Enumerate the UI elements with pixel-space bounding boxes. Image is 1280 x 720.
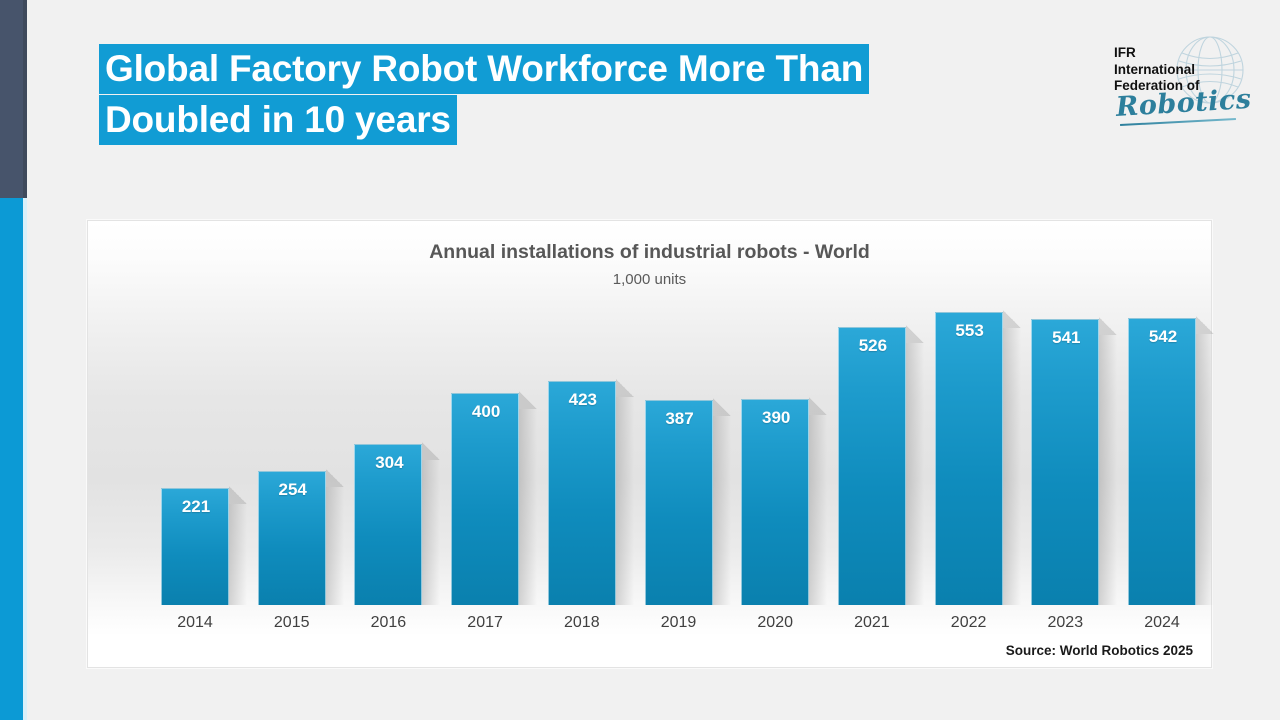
bar-value-label: 423 (549, 390, 617, 410)
bar-shadow-corner (326, 469, 344, 487)
x-axis-tick-label: 2021 (832, 614, 912, 632)
title-line-2: Doubled in 10 years (99, 95, 457, 145)
bar-shadow (1099, 335, 1117, 605)
bar-value-label: 541 (1032, 328, 1100, 348)
bar-shadow (906, 343, 924, 605)
bar-shadow-corner (1003, 310, 1021, 328)
ifr-logo: IFR International Federation of Robotics (1114, 33, 1254, 138)
bar-shadow-corner (229, 486, 247, 504)
chart-panel: Annual installations of industrial robot… (87, 220, 1212, 668)
bar-value-label: 221 (162, 497, 230, 517)
bar-value-label: 526 (839, 336, 907, 356)
bar-shadow (1196, 334, 1214, 605)
bar-value-label: 254 (259, 480, 327, 500)
bar-group: 3042016 (354, 444, 422, 605)
bar-shadow (422, 460, 440, 605)
bar-shadow (616, 397, 634, 605)
x-axis-tick-label: 2018 (542, 614, 622, 632)
x-axis-tick-label: 2020 (735, 614, 815, 632)
bar[interactable]: 553 (935, 312, 1003, 605)
bar-shadow (1003, 328, 1021, 605)
bar-group: 2212014 (161, 488, 229, 605)
bar-value-label: 542 (1129, 327, 1197, 347)
bar-shadow (229, 504, 247, 605)
bar[interactable]: 400 (451, 393, 519, 605)
x-axis-tick-label: 2016 (348, 614, 428, 632)
bar-value-label: 553 (936, 321, 1004, 341)
title-line-1: Global Factory Robot Workforce More Than (99, 44, 869, 94)
logo-line-2: International (1114, 62, 1200, 79)
bar-shadow-corner (809, 397, 827, 415)
bar-shadow-corner (713, 398, 731, 416)
x-axis-tick-label: 2015 (252, 614, 332, 632)
bar[interactable]: 304 (354, 444, 422, 605)
left-accent-strip-dark (0, 0, 23, 198)
logo-line-1: IFR (1114, 45, 1200, 62)
x-axis-tick-label: 2023 (1025, 614, 1105, 632)
bar-group: 2542015 (258, 471, 326, 605)
bar[interactable]: 221 (161, 488, 229, 605)
bar-group: 3902020 (741, 399, 809, 605)
bar[interactable]: 423 (548, 381, 616, 605)
chart-source: Source: World Robotics 2025 (1006, 643, 1193, 658)
bar-shadow (713, 416, 731, 605)
bar-shadow-corner (422, 442, 440, 460)
x-axis-tick-label: 2014 (155, 614, 235, 632)
bar-value-label: 400 (452, 402, 520, 422)
bar-shadow (519, 409, 537, 605)
bar-group: 4002017 (451, 393, 519, 605)
slide-canvas: Global Factory Robot Workforce More Than… (27, 0, 1280, 720)
bar-value-label: 387 (646, 409, 714, 429)
bar-group: 3872019 (645, 400, 713, 605)
x-axis-tick-label: 2024 (1122, 614, 1202, 632)
bar-group: 5422024 (1128, 318, 1196, 605)
bar-group: 5412023 (1031, 319, 1099, 605)
bar[interactable]: 254 (258, 471, 326, 605)
bar-shadow-corner (906, 325, 924, 343)
x-axis-tick-label: 2022 (929, 614, 1009, 632)
left-accent-strip-blue (0, 198, 23, 720)
bar-shadow-corner (616, 379, 634, 397)
page-title: Global Factory Robot Workforce More Than… (99, 44, 1029, 145)
bar[interactable]: 541 (1031, 319, 1099, 605)
bar-group: 5262021 (838, 327, 906, 605)
bar-group: 4232018 (548, 381, 616, 605)
bar-shadow-corner (1099, 317, 1117, 335)
bar[interactable]: 526 (838, 327, 906, 605)
bar[interactable]: 542 (1128, 318, 1196, 605)
bar-shadow-corner (1196, 316, 1214, 334)
bar[interactable]: 390 (741, 399, 809, 605)
bar[interactable]: 387 (645, 400, 713, 605)
bar-value-label: 390 (742, 408, 810, 428)
bar-shadow (809, 415, 827, 605)
bar-group: 5532022 (935, 312, 1003, 605)
x-axis-tick-label: 2017 (445, 614, 525, 632)
x-axis-tick-label: 2019 (639, 614, 719, 632)
bar-shadow (326, 487, 344, 605)
bar-shadow-corner (519, 391, 537, 409)
plot-area: 2212014254201530420164002017423201838720… (88, 221, 1213, 669)
bar-value-label: 304 (355, 453, 423, 473)
